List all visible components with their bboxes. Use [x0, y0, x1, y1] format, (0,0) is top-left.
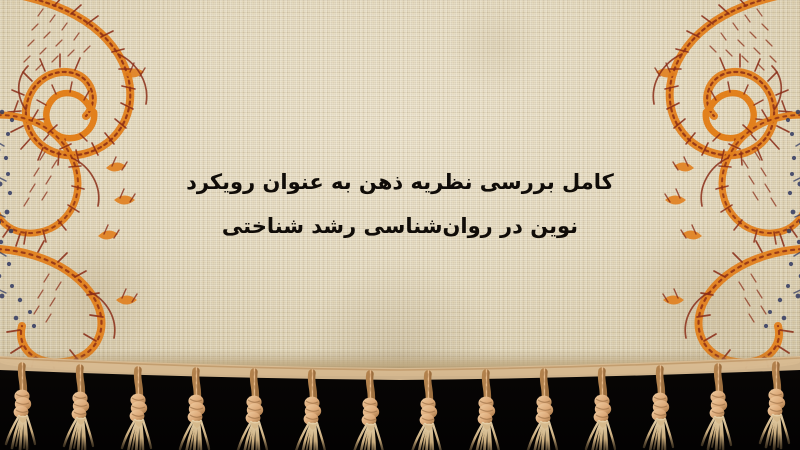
fabric-bottom-shadow — [0, 350, 800, 376]
title-line-1: کامل بررسی نظریه ذهن به عنوان رویکرد — [0, 160, 800, 204]
title-card-canvas: کامل بررسی نظریه ذهن به عنوان رویکرد نوی… — [0, 0, 800, 450]
page-title: کامل بررسی نظریه ذهن به عنوان رویکرد نوی… — [0, 160, 800, 248]
title-line-2: نوین در روان‌شناسی رشد شناختی — [0, 204, 800, 248]
